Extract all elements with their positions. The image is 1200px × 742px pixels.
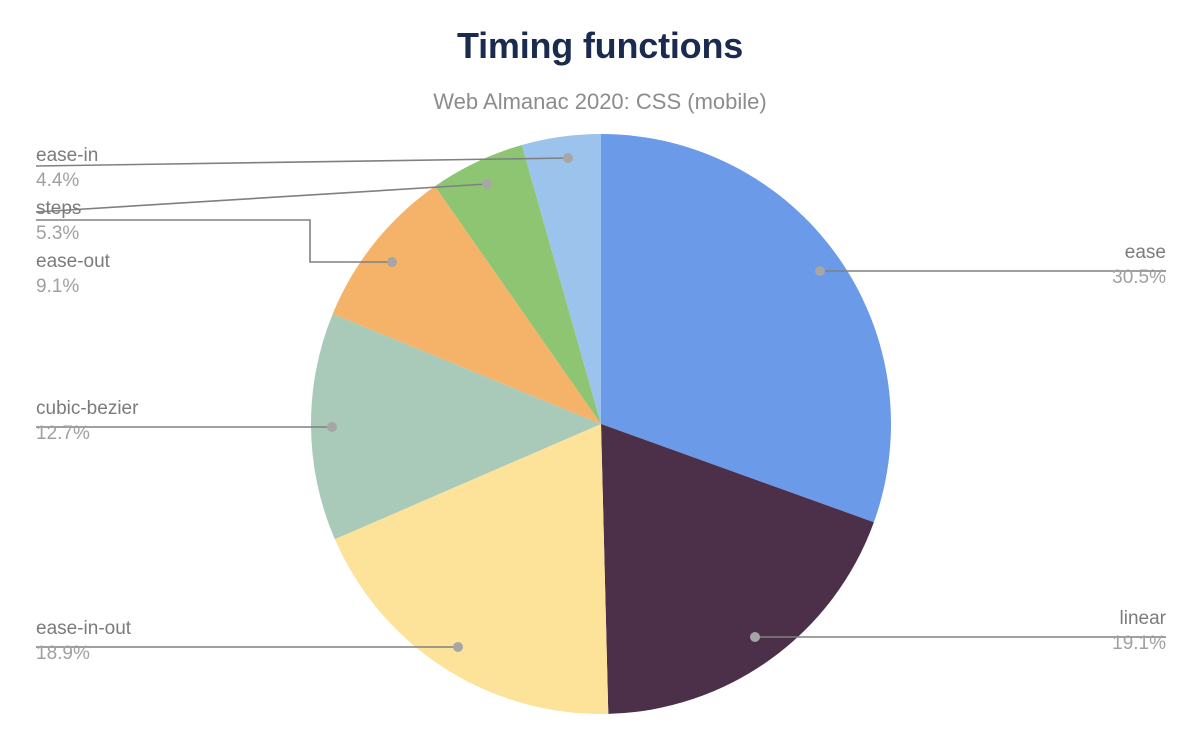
leader-dot-linear	[750, 632, 760, 642]
slice-label-linear-value: 19.1%	[1112, 631, 1166, 656]
slice-label-ease-in-value: 4.4%	[36, 168, 98, 193]
slice-label-cubic-bezier-name: cubic-bezier	[36, 396, 138, 421]
slice-label-steps-value: 5.3%	[36, 221, 81, 246]
leader-dot-ease-in-out	[453, 642, 463, 652]
pie-slices	[311, 134, 891, 714]
slice-label-ease-in-out-value: 18.9%	[36, 641, 131, 666]
slice-label-ease-out[interactable]: ease-out 9.1%	[36, 249, 110, 299]
slice-label-ease[interactable]: ease 30.5%	[1112, 240, 1166, 290]
leader-dot-steps	[482, 179, 492, 189]
slice-label-ease-in-name: ease-in	[36, 143, 98, 168]
leader-dot-cubic-bezier	[327, 422, 337, 432]
slice-label-linear-name: linear	[1112, 606, 1166, 631]
slice-label-ease-value: 30.5%	[1112, 265, 1166, 290]
pie-svg	[0, 0, 1200, 742]
slice-label-steps[interactable]: steps 5.3%	[36, 196, 81, 246]
slice-label-ease-in-out-name: ease-in-out	[36, 616, 131, 641]
slice-label-ease-in[interactable]: ease-in 4.4%	[36, 143, 98, 193]
leader-dot-ease	[815, 266, 825, 276]
pie-chart-figure: Timing functions Web Almanac 2020: CSS (…	[0, 0, 1200, 742]
slice-label-ease-out-name: ease-out	[36, 249, 110, 274]
slice-label-ease-name: ease	[1112, 240, 1166, 265]
slice-label-cubic-bezier-value: 12.7%	[36, 421, 138, 446]
slice-label-linear[interactable]: linear 19.1%	[1112, 606, 1166, 656]
leader-dot-ease-in	[563, 153, 573, 163]
slice-label-steps-name: steps	[36, 196, 81, 221]
slice-label-cubic-bezier[interactable]: cubic-bezier 12.7%	[36, 396, 138, 446]
slice-label-ease-out-value: 9.1%	[36, 274, 110, 299]
slice-label-ease-in-out[interactable]: ease-in-out 18.9%	[36, 616, 131, 666]
leader-dot-ease-out	[387, 257, 397, 267]
